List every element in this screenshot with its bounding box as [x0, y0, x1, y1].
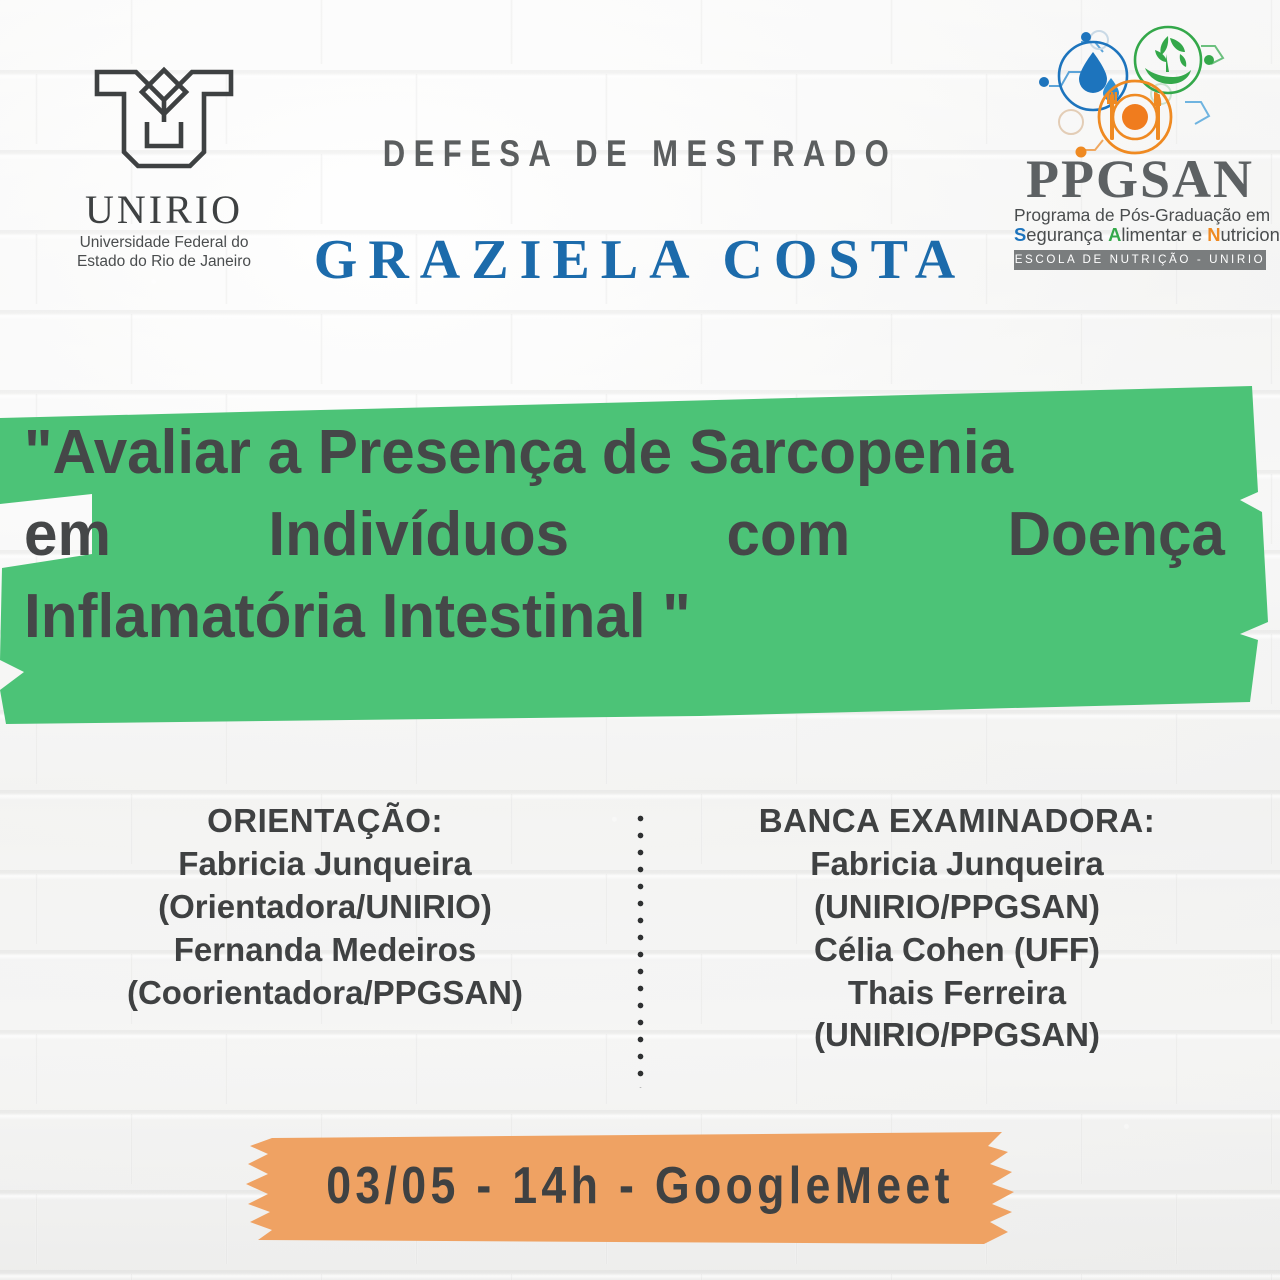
- poster-canvas: UNIRIO Universidade Federal do Estado do…: [0, 0, 1280, 1280]
- committee-name-3: Thais Ferreira: [672, 972, 1242, 1015]
- event-kicker: DEFESA DE MESTRADO: [102, 133, 1177, 175]
- thesis-line-2-word: Doença: [1008, 494, 1225, 576]
- thesis-line-2-word: Indivíduos: [268, 494, 569, 576]
- advisor-name-2: Fernanda Medeiros: [40, 929, 610, 972]
- unirio-wordmark: UNIRIO: [36, 190, 292, 230]
- advisor-affiliation-1: (Orientadora/UNIRIO): [40, 886, 610, 929]
- committee-column: BANCA EXAMINADORA: Fabricia Junqueira (U…: [672, 800, 1242, 1057]
- thesis-title: "Avaliar a Presença de Sarcopenia emIndi…: [24, 412, 1225, 657]
- committee-name-1: Fabricia Junqueira: [672, 843, 1242, 886]
- advising-column: ORIENTAÇÃO: Fabricia Junqueira (Orientad…: [40, 800, 610, 1014]
- student-name: GRAZIELA COSTA: [0, 228, 1280, 292]
- advisor-name-1: Fabricia Junqueira: [40, 843, 610, 886]
- advising-heading: ORIENTAÇÃO:: [40, 800, 610, 843]
- ppgsan-tagline-line1: Programa de Pós-Graduação em: [1014, 206, 1266, 225]
- thesis-line-3: Inflamatória Intestinal ": [24, 576, 1225, 658]
- thesis-line-2: emIndivíduoscomDoença: [24, 494, 1225, 576]
- committee-heading: BANCA EXAMINADORA:: [672, 800, 1242, 843]
- committee-name-2: Célia Cohen (UFF): [672, 929, 1242, 972]
- hand-plant-icon: [1145, 36, 1191, 84]
- committee-affiliation-3: (UNIRIO/PPGSAN): [672, 1014, 1242, 1057]
- column-divider-dotted: [637, 810, 644, 1088]
- thesis-line-1: "Avaliar a Presença de Sarcopenia: [24, 412, 1225, 494]
- event-banner: 03/05 - 14h - GoogleMeet: [232, 1122, 1048, 1250]
- advisor-affiliation-2: (Coorientadora/PPGSAN): [40, 972, 610, 1015]
- event-banner-text: 03/05 - 14h - GoogleMeet: [289, 1122, 991, 1250]
- water-drop-icon: [1079, 52, 1107, 93]
- thesis-line-2-word: com: [727, 494, 851, 576]
- committee-affiliation-1: (UNIRIO/PPGSAN): [672, 886, 1242, 929]
- people-columns: ORIENTAÇÃO: Fabricia Junqueira (Orientad…: [0, 800, 1280, 1100]
- thesis-line-2-word: em: [24, 494, 111, 576]
- thesis-banner: "Avaliar a Presença de Sarcopenia emIndi…: [0, 372, 1280, 732]
